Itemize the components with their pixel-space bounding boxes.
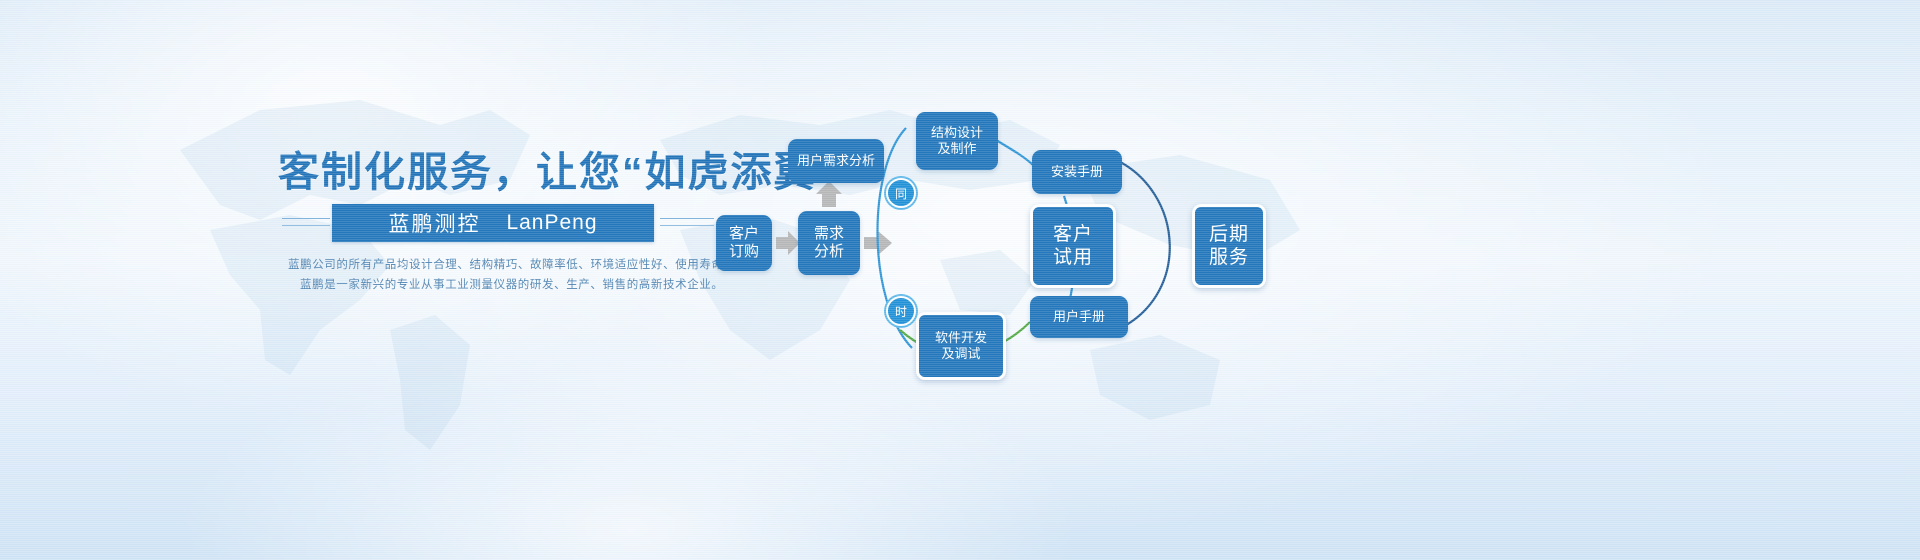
flow-node-label: 客户试用 <box>1053 223 1093 269</box>
flow-node-label: 用户手册 <box>1053 309 1105 325</box>
flow-badge-simultaneous-first: 同 <box>886 178 916 208</box>
flow-badge-simultaneous-second: 时 <box>886 296 916 326</box>
flow-node-requirement-analysis[interactable]: 需求分析 <box>798 211 860 275</box>
flow-node-label: 后期服务 <box>1209 223 1249 269</box>
flow-node-user-requirement-analysis[interactable]: 用户需求分析 <box>788 139 884 183</box>
flow-node-label: 结构设计及制作 <box>931 125 983 157</box>
page-title: 客制化服务，让您“如虎添翼” <box>278 138 839 198</box>
decor-rule-right-2 <box>660 225 714 226</box>
flow-node-customer-order[interactable]: 客户订购 <box>716 215 772 271</box>
brand-name-cn: 蓝鹏测控 <box>388 208 480 238</box>
flow-node-structural-design[interactable]: 结构设计及制作 <box>916 112 998 170</box>
flow-node-label: 用户需求分析 <box>797 153 875 169</box>
flow-node-after-sales-service[interactable]: 后期服务 <box>1192 204 1266 288</box>
flow-node-label: 软件开发及调试 <box>935 330 987 362</box>
description-line-2: 蓝鹏是一家新兴的专业从事工业测量仪器的研发、生产、销售的高新技术企业。 <box>300 276 724 292</box>
flow-node-installation-manual[interactable]: 安装手册 <box>1032 150 1122 194</box>
flow-badge-label: 时 <box>895 303 907 320</box>
flow-node-customer-trial[interactable]: 客户试用 <box>1030 204 1116 288</box>
brand-bar: 蓝鹏测控 LanPeng <box>332 204 654 242</box>
brand-name-en: LanPeng <box>506 211 597 235</box>
flow-node-software-development[interactable]: 软件开发及调试 <box>916 312 1006 380</box>
flow-node-label: 安装手册 <box>1051 164 1103 180</box>
description-line-1: 蓝鹏公司的所有产品均设计合理、结构精巧、故障率低、环境适应性好、使用寿命长。 <box>288 256 748 272</box>
flow-node-label: 需求分析 <box>814 225 844 262</box>
decor-rule-right-1 <box>660 218 714 219</box>
decor-rule-left-1 <box>282 218 330 219</box>
banner-hero: 客制化服务，让您“如虎添翼” 蓝鹏测控 LanPeng 蓝鹏公司的所有产品均设计… <box>0 0 1920 560</box>
flow-badge-label: 同 <box>895 185 907 202</box>
flow-node-label: 客户订购 <box>729 225 759 262</box>
decor-rule-left-2 <box>282 225 330 226</box>
flow-node-user-manual[interactable]: 用户手册 <box>1030 296 1128 338</box>
